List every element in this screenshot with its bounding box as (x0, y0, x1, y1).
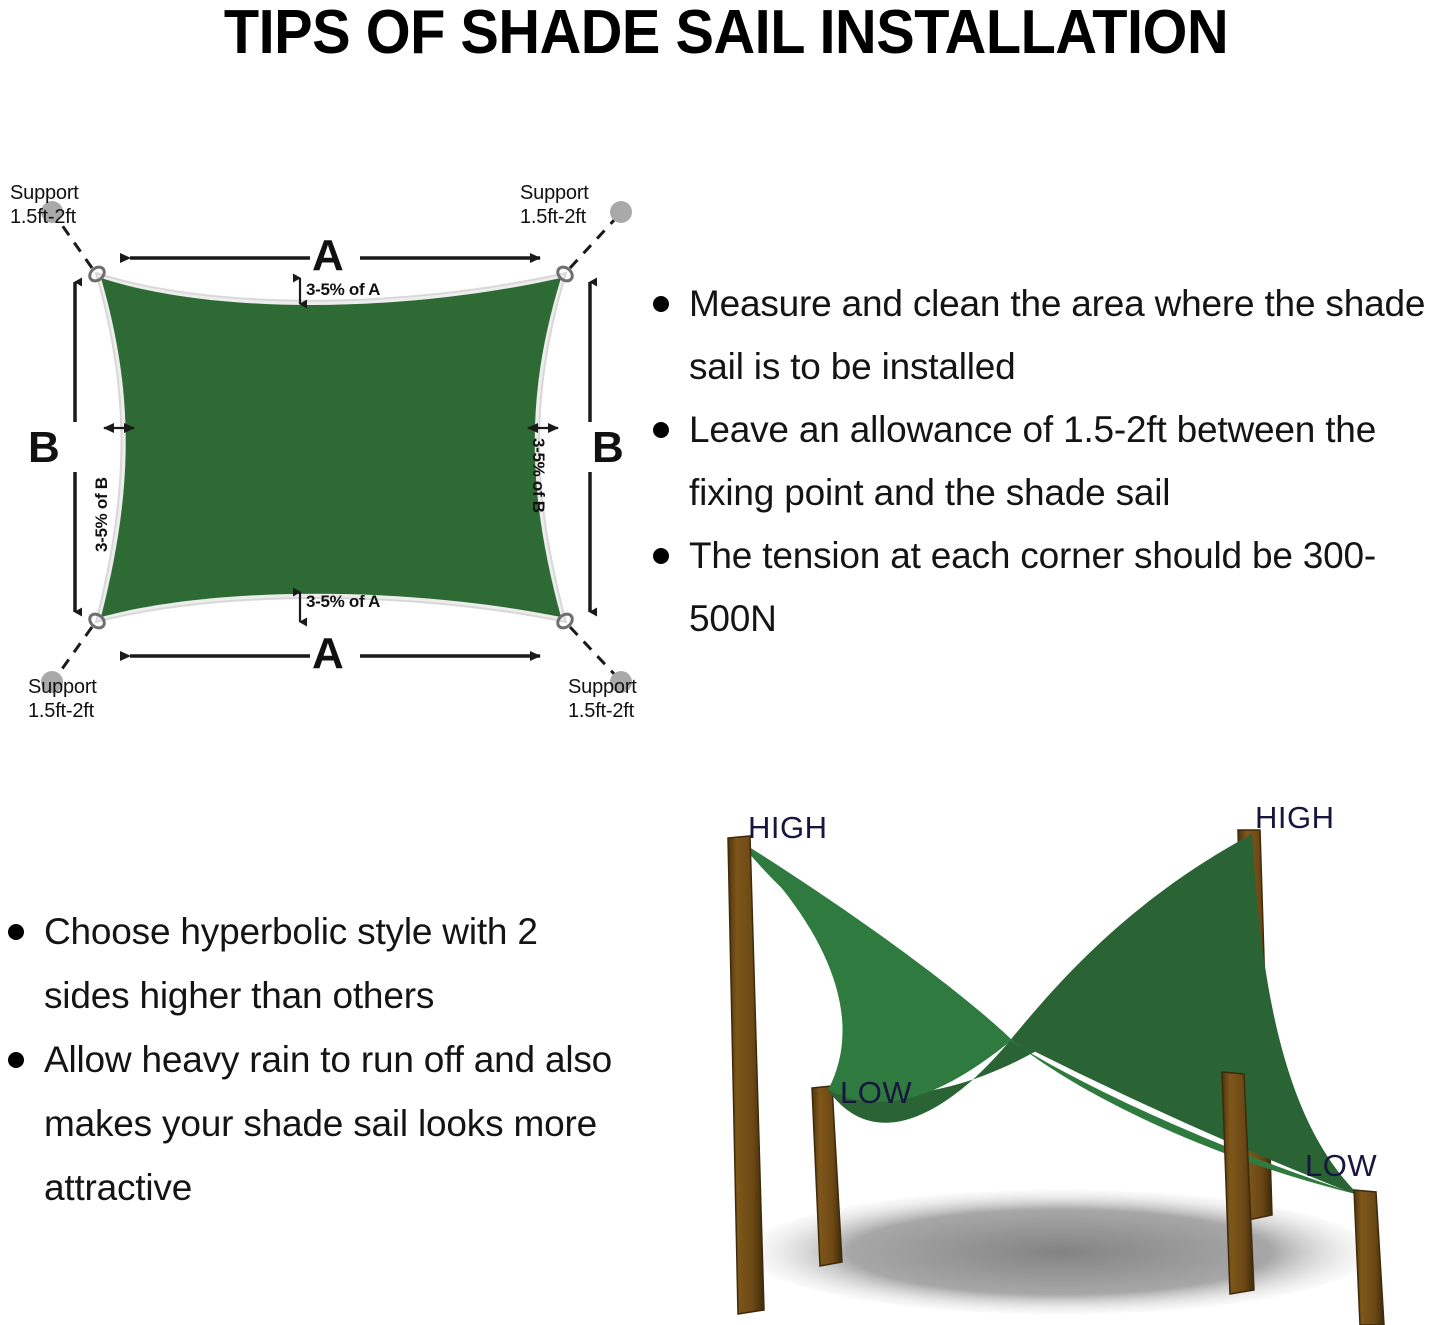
support-label-line1: Support (520, 182, 589, 206)
bullet-dot-icon (653, 296, 669, 312)
support-label-line1: Support (10, 182, 79, 206)
post-label-low-left: LOW (840, 1075, 912, 1111)
list-item: Leave an allowance of 1.5-2ft between th… (645, 398, 1452, 524)
bullet-dot-icon (653, 548, 669, 564)
support-label-line1: Support (568, 676, 637, 700)
bullet-dot-icon (653, 422, 669, 438)
list-item-text: The tension at each corner should be 300… (689, 535, 1376, 639)
dimension-letter-bottom-a: A (312, 628, 344, 680)
list-item: Allow heavy rain to run off and also mak… (0, 1028, 630, 1220)
post-label-high-left: HIGH (748, 810, 828, 846)
list-item-text: Leave an allowance of 1.5-2ft between th… (689, 409, 1376, 513)
tips-list-top: Measure and clean the area where the sha… (645, 272, 1452, 650)
support-label-top-right: Support 1.5ft-2ft (520, 182, 589, 229)
list-item: Choose hyperbolic style with 2 sides hig… (0, 900, 630, 1028)
sail-wing-left (738, 840, 1012, 1102)
support-label-line2: 1.5ft-2ft (520, 206, 589, 230)
post-high-left (728, 836, 764, 1314)
dimension-letter-left-b: B (28, 422, 60, 474)
infographic-page: TIPS OF SHADE SAIL INSTALLATION (0, 0, 1452, 1325)
support-label-line2: 1.5ft-2ft (10, 206, 79, 230)
list-item-text: Allow heavy rain to run off and also mak… (44, 1039, 612, 1208)
dimension-letter-top-a: A (312, 230, 344, 282)
support-label-top-left: Support 1.5ft-2ft (10, 182, 79, 229)
support-label-line2: 1.5ft-2ft (28, 700, 97, 724)
curvature-label-top: 3-5% of A (306, 280, 380, 300)
support-label-line1: Support (28, 676, 97, 700)
dimension-letter-right-b: B (592, 422, 624, 474)
post-low-right (1354, 1190, 1384, 1325)
curvature-label-bottom: 3-5% of A (306, 592, 380, 612)
post-label-high-right: HIGH (1255, 800, 1335, 836)
rect-sail-diagram: Support 1.5ft-2ft Support 1.5ft-2ft Supp… (0, 160, 650, 740)
support-label-bottom-left: Support 1.5ft-2ft (28, 676, 97, 723)
post-label-low-right: LOW (1305, 1148, 1377, 1184)
list-item-text: Choose hyperbolic style with 2 sides hig… (44, 911, 538, 1016)
support-label-line2: 1.5ft-2ft (568, 700, 637, 724)
curvature-label-right: 3-5% of B (528, 438, 548, 513)
list-item: The tension at each corner should be 300… (645, 524, 1452, 650)
list-item-text: Measure and clean the area where the sha… (689, 283, 1425, 387)
list-item: Measure and clean the area where the sha… (645, 272, 1452, 398)
hyperbolic-sail-diagram: HIGH LOW HIGH LOW (660, 790, 1452, 1325)
tips-list-bottom: Choose hyperbolic style with 2 sides hig… (0, 900, 630, 1220)
page-title: TIPS OF SHADE SAIL INSTALLATION (51, 0, 1401, 66)
ground-shadow (750, 1190, 1370, 1314)
bullet-dot-icon (8, 1052, 24, 1068)
bullet-dot-icon (8, 924, 24, 940)
support-label-bottom-right: Support 1.5ft-2ft (568, 676, 637, 723)
curvature-label-left: 3-5% of B (92, 477, 112, 552)
sail-body (101, 278, 561, 617)
